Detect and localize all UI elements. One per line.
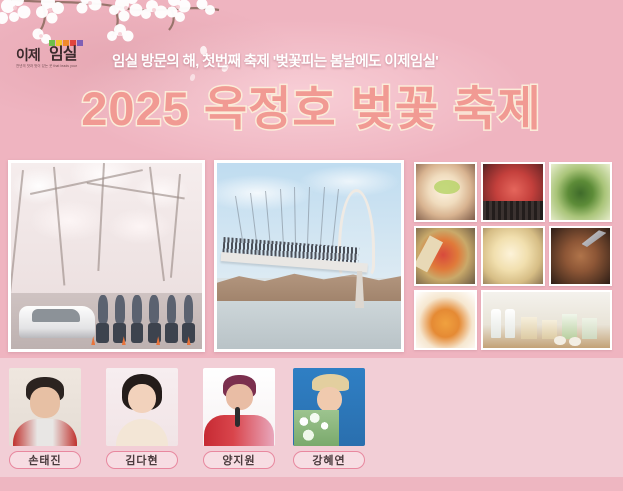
artist-photo xyxy=(9,368,81,446)
cyclist xyxy=(129,295,144,343)
bottom-edge-strip xyxy=(0,477,623,491)
artist-photo xyxy=(106,368,178,446)
food-cell xyxy=(414,226,477,286)
artist-card-3[interactable]: 양지원 xyxy=(203,368,275,469)
food-cell xyxy=(481,162,544,222)
food-cell xyxy=(481,226,544,286)
poster-title: 2025 옥정호 벚꽃 축제 xyxy=(0,84,623,133)
cyclist xyxy=(181,295,196,343)
festival-poster: 이제 임실 천년의 맛과 멋이 있는 곳 that leads your 임실 … xyxy=(0,0,623,491)
artist-card-4[interactable]: 강혜연 xyxy=(293,368,365,469)
food-cell xyxy=(414,290,477,350)
artist-card-2[interactable]: 김다현 xyxy=(106,368,178,469)
food-cell xyxy=(414,162,477,222)
bottom-band: 손태진 김다현 양지원 강혜연 xyxy=(0,358,623,491)
local-food-grid xyxy=(414,162,612,350)
imsil-logo: 이제 임실 천년의 맛과 멋이 있는 곳 that leads your xyxy=(16,40,94,74)
food-cell-products xyxy=(481,290,612,350)
bridge-image xyxy=(217,163,401,349)
logo-word-ije: 이제 xyxy=(16,48,40,62)
photo-band xyxy=(0,155,623,355)
artist-photo xyxy=(293,368,365,446)
artist-lineup: 손태진 김다현 양지원 강혜연 xyxy=(4,368,364,478)
poster-header: 이제 임실 천년의 맛과 멋이 있는 곳 that leads your 임실 … xyxy=(0,0,623,150)
food-cell xyxy=(549,162,612,222)
artist-name-badge: 김다현 xyxy=(106,451,178,469)
artist-card-1[interactable]: 손태진 xyxy=(9,368,81,469)
cyclist xyxy=(112,295,127,343)
logo-tagline: 천년의 맛과 멋이 있는 곳 that leads your xyxy=(16,64,77,68)
photo-suspension-bridge xyxy=(214,160,404,352)
cyclist xyxy=(95,295,110,343)
blossom-road-image xyxy=(11,163,202,349)
artist-name-badge: 손태진 xyxy=(9,451,81,469)
cyclist xyxy=(147,295,162,343)
white-car xyxy=(19,306,95,338)
cyclist xyxy=(164,295,179,343)
artist-name-badge: 양지원 xyxy=(203,451,275,469)
poster-subtitle: 임실 방문의 해, 첫번째 축제 '벚꽃피는 봄날에도 이제임실' xyxy=(112,50,552,71)
photo-blossom-road xyxy=(8,160,205,352)
artist-photo xyxy=(203,368,275,446)
lake-water xyxy=(217,301,401,349)
logo-word-imsil: 임실 xyxy=(49,47,76,63)
artist-name-badge: 강혜연 xyxy=(293,451,365,469)
food-cell xyxy=(549,226,612,286)
